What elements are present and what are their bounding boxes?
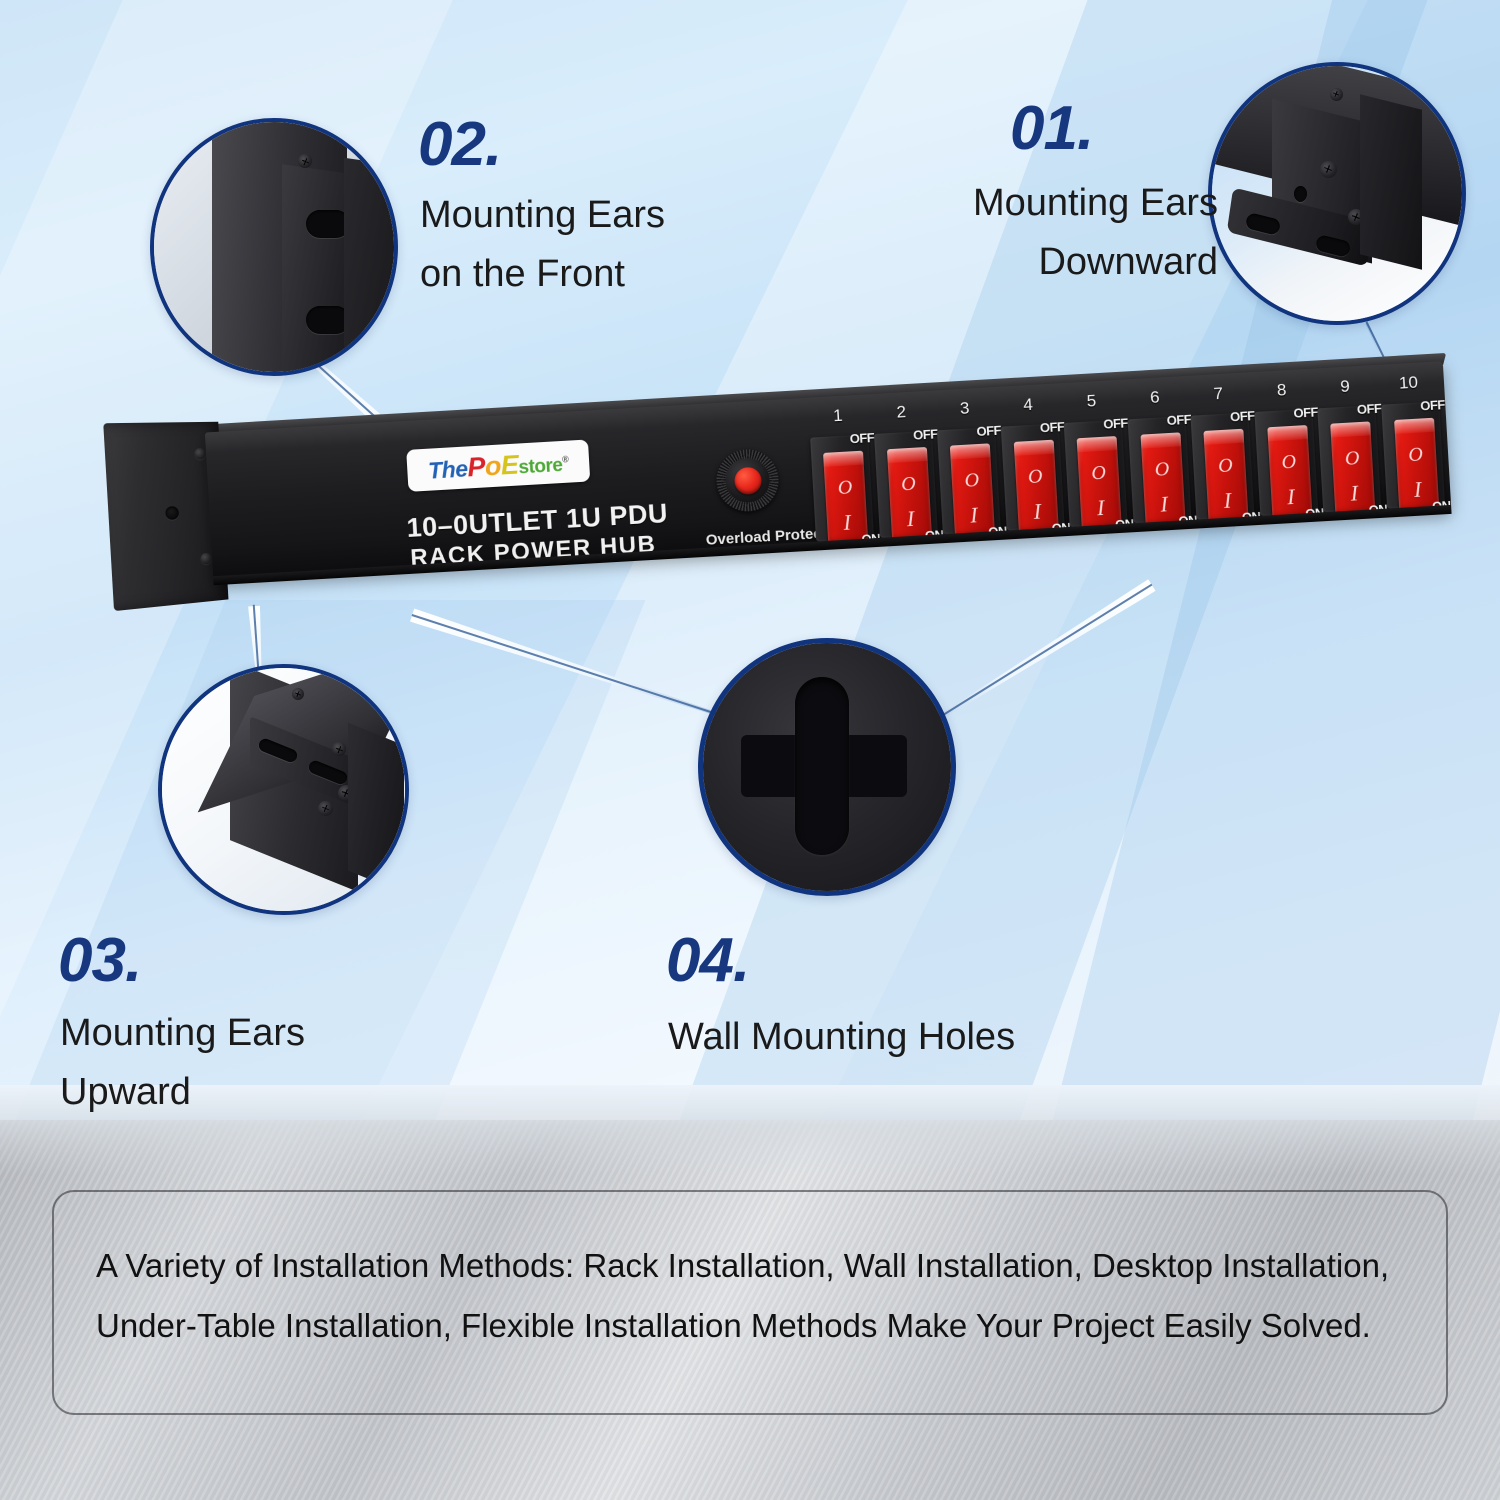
bracket-side-01 — [1360, 94, 1422, 269]
switch-housing: OI — [1190, 412, 1254, 519]
power-switch-3[interactable]: 3OIOFFON — [932, 417, 1005, 539]
switch-number-label: 4 — [995, 393, 1062, 417]
switch-symbol-off-icon: O — [1142, 458, 1183, 480]
switch-off-label: OFF — [1420, 397, 1445, 413]
callout-label-02: Mounting Ears on the Front — [420, 186, 820, 304]
callout-label-04: Wall Mounting Holes — [668, 1008, 1228, 1067]
switch-rocker[interactable]: OI — [1330, 421, 1375, 515]
inset-image-03 — [158, 664, 409, 915]
switch-number-label: 9 — [1312, 375, 1379, 399]
bracket-screw-03-d — [292, 688, 304, 700]
endcap-screw-top — [194, 448, 206, 459]
switch-symbol-off-icon: O — [1395, 444, 1436, 466]
switch-rocker[interactable]: OI — [1140, 432, 1185, 526]
reset-button[interactable] — [733, 466, 762, 495]
switch-rocker[interactable]: OI — [950, 443, 995, 537]
switch-housing: OI — [1000, 423, 1064, 530]
switch-number-label: 5 — [1058, 390, 1125, 414]
bracket-screw-03-a — [332, 742, 346, 756]
switch-housing: OI — [810, 434, 874, 541]
switch-number-label: 3 — [931, 397, 998, 421]
switch-symbol-off-icon: O — [1078, 462, 1119, 484]
bracket-screw-01-c — [1330, 88, 1343, 101]
bracket-screw-01-a — [1320, 161, 1337, 178]
power-switch-5[interactable]: 5OIOFFON — [1059, 409, 1132, 531]
bracket-screw-02 — [298, 154, 312, 168]
callout-number-03: 03. — [58, 930, 141, 992]
callout-number-04: 04. — [666, 930, 749, 992]
switch-housing: OI — [937, 427, 1001, 534]
inset-image-01 — [1208, 62, 1466, 325]
endcap-mounting-hole — [165, 506, 179, 520]
switch-symbol-off-icon: O — [1332, 447, 1373, 469]
power-switch-7[interactable]: 7OIOFFON — [1186, 402, 1259, 524]
brand-logo-text: ThePoEstore® — [427, 446, 569, 485]
callout-number-01: 01. — [1010, 98, 1093, 160]
callout-label-01: Mounting Ears Downward — [838, 174, 1218, 292]
overload-protector-knob[interactable] — [715, 448, 780, 513]
switch-symbol-off-icon: O — [888, 473, 929, 495]
switch-symbol-off-icon: O — [825, 477, 866, 499]
switch-rocker[interactable]: OI — [886, 447, 931, 541]
switch-housing: OI — [1254, 409, 1318, 516]
power-switch-10[interactable]: 10OIOFFON — [1376, 391, 1449, 513]
power-switch-6[interactable]: 6OIOFFON — [1123, 406, 1196, 528]
power-switch-9[interactable]: 9OIOFFON — [1313, 395, 1386, 517]
switch-rocker[interactable]: OI — [1203, 429, 1248, 523]
power-switch-2[interactable]: 2OIOFFON — [869, 420, 942, 542]
switch-rocker[interactable]: OI — [1267, 425, 1312, 519]
registered-trademark-icon: ® — [562, 453, 569, 463]
installation-methods-text: A Variety of Installation Methods: Rack … — [96, 1236, 1404, 1356]
endcap-screw-bottom — [200, 553, 211, 565]
bracket-side-02 — [344, 158, 398, 376]
brand-logo-plate: ThePoEstore® — [406, 439, 590, 491]
product-infographic: 02. Mounting Ears on the Front 01. Mount… — [0, 0, 1500, 1500]
callout-number-02: 02. — [418, 114, 501, 176]
switch-number-label: 6 — [1121, 386, 1188, 410]
callout-label-03: Mounting Ears Upward — [60, 1004, 460, 1122]
switch-number-label: 8 — [1248, 379, 1315, 403]
switch-number-label: 7 — [1185, 382, 1252, 406]
switch-housing: OI — [874, 431, 938, 538]
switch-symbol-off-icon: O — [951, 469, 992, 491]
logo-part-p: P — [467, 451, 486, 482]
power-switch-4[interactable]: 4OIOFFON — [996, 413, 1069, 535]
inset-image-02 — [150, 118, 398, 376]
inset-image-04 — [698, 638, 956, 896]
logo-part-store: store — [518, 454, 563, 477]
bracket-side-03 — [348, 723, 404, 894]
switch-rocker[interactable]: OI — [823, 451, 868, 545]
switch-rocker[interactable]: OI — [1013, 440, 1058, 534]
switch-symbol-off-icon: O — [1205, 455, 1246, 477]
switch-symbol-off-icon: O — [1268, 451, 1309, 473]
logo-part-e: E — [500, 449, 519, 480]
switch-housing: OI — [1317, 405, 1381, 512]
bracket-hole-01 — [1294, 186, 1307, 202]
installation-methods-box: A Variety of Installation Methods: Rack … — [52, 1190, 1448, 1415]
switch-housing: OI — [1381, 401, 1445, 508]
switch-housing: OI — [1127, 416, 1191, 523]
switch-housing: OI — [1064, 420, 1128, 527]
switch-rocker[interactable]: OI — [1077, 436, 1122, 530]
switch-rocker[interactable]: OI — [1394, 418, 1439, 512]
logo-part-o: o — [484, 450, 502, 481]
switch-symbol-off-icon: O — [1015, 466, 1056, 488]
logo-part-the: The — [427, 455, 468, 483]
switch-number-label: 10 — [1375, 371, 1442, 395]
power-switch-1[interactable]: 1OIOFFON — [806, 424, 879, 546]
switch-number-label: 1 — [804, 404, 871, 428]
keyhole-shadow — [795, 677, 849, 855]
switch-number-label: 2 — [868, 400, 935, 424]
power-switch-8[interactable]: 8OIOFFON — [1249, 399, 1322, 521]
bracket-screw-03-c — [318, 801, 333, 816]
knob-collar — [724, 457, 770, 503]
